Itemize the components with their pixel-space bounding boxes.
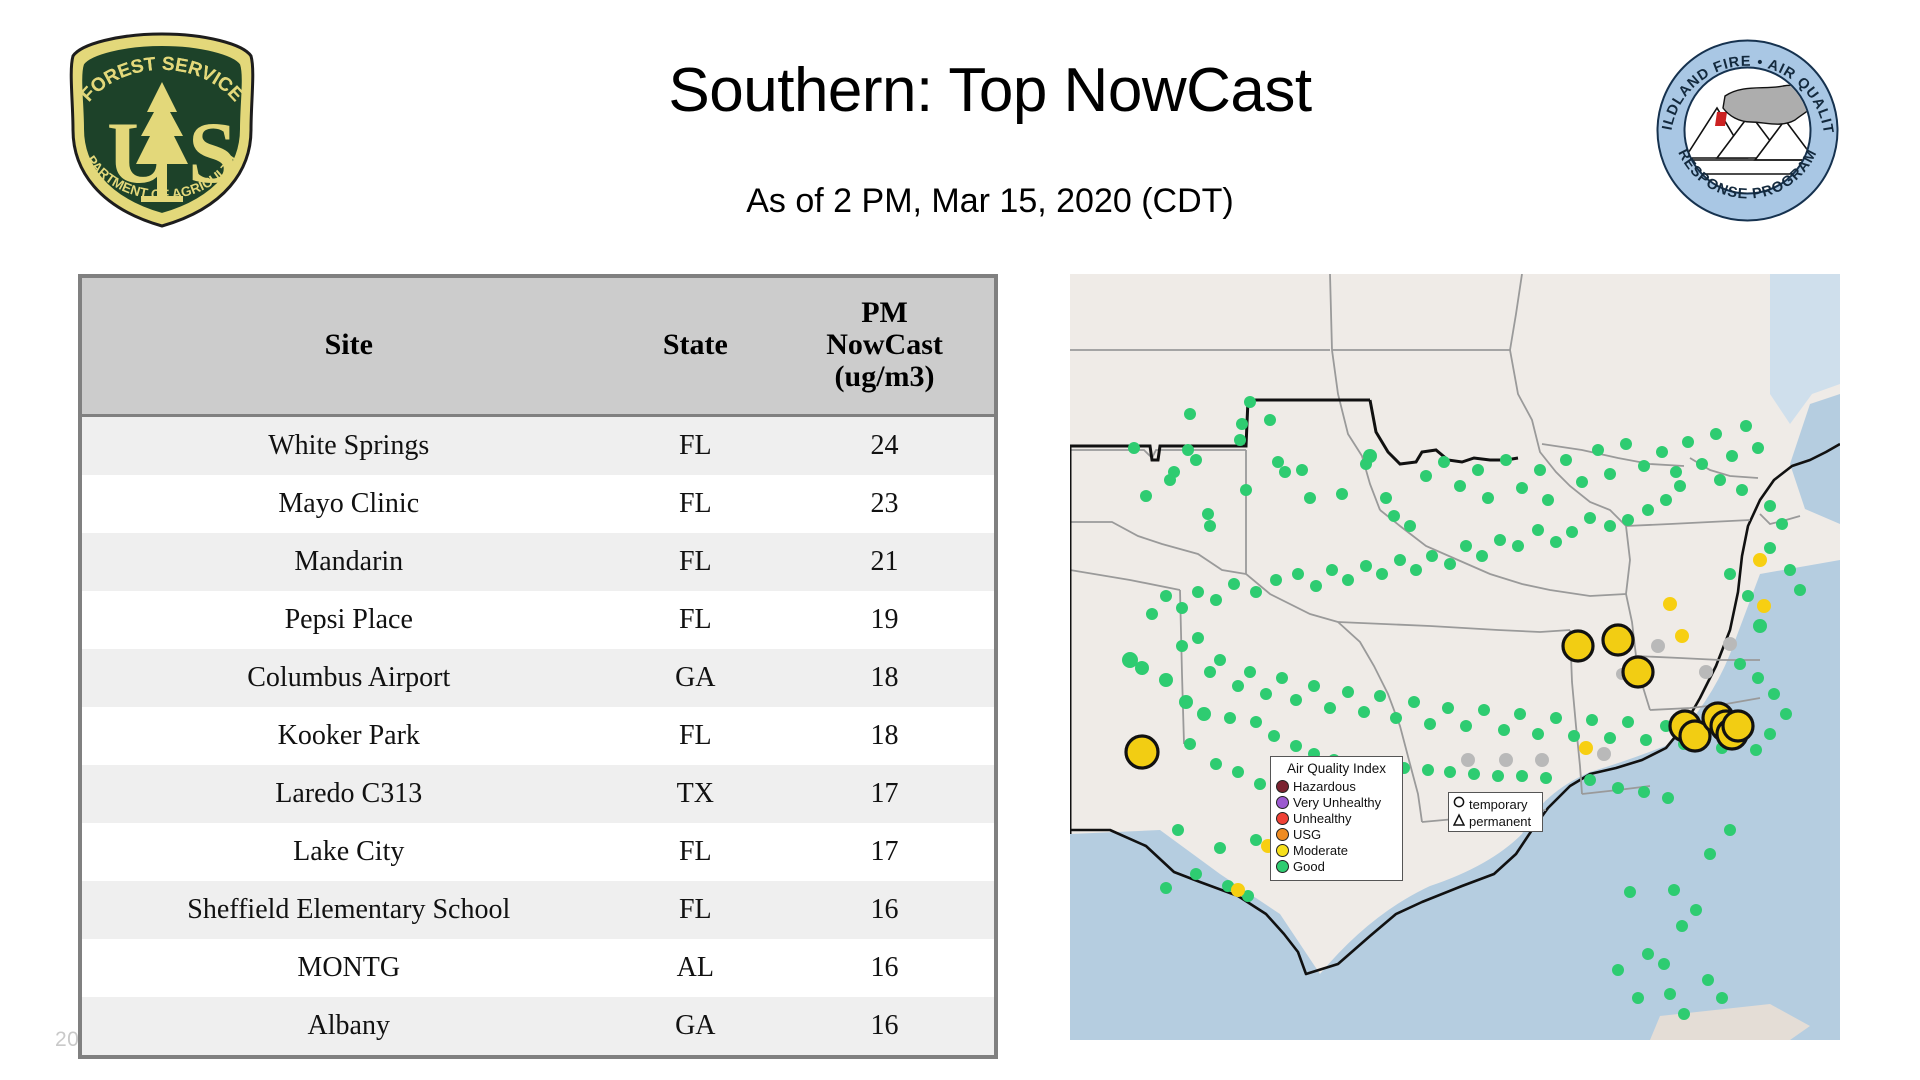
aqi-swatch-icon: [1276, 796, 1289, 809]
cell-value: 23: [775, 475, 994, 533]
aqi-legend-label: USG: [1293, 827, 1321, 842]
permanent-triangle-icon: [1453, 813, 1467, 830]
aqi-legend-label: Moderate: [1293, 843, 1348, 858]
cell-site: Columbus Airport: [82, 649, 616, 707]
nowcast-table: Site State PM NowCast (ug/m3) White Spri…: [78, 274, 998, 1059]
cell-state: FL: [616, 823, 776, 881]
cell-site: Lake City: [82, 823, 616, 881]
table-row: Columbus AirportGA18: [82, 649, 994, 707]
cell-value: 24: [775, 416, 994, 476]
cell-state: FL: [616, 881, 776, 939]
cell-site: Pepsi Place: [82, 591, 616, 649]
page-subtitle: As of 2 PM, Mar 15, 2020 (CDT): [400, 182, 1580, 221]
cell-value: 18: [775, 649, 994, 707]
site-type-permanent: permanent: [1453, 813, 1538, 830]
pm-nowcast-line2: NowCast: [826, 328, 943, 361]
aqi-swatch-icon: [1276, 844, 1289, 857]
cell-state: GA: [616, 649, 776, 707]
table-row: Mayo ClinicFL23: [82, 475, 994, 533]
column-header-pm-nowcast: PM NowCast (ug/m3): [775, 278, 994, 416]
cell-state: FL: [616, 707, 776, 765]
cell-site: Albany: [82, 997, 616, 1055]
pm-nowcast-line3: (ug/m3): [835, 360, 935, 393]
cell-site: White Springs: [82, 416, 616, 476]
column-header-site: Site: [82, 278, 616, 416]
aqi-legend-label: Good: [1293, 859, 1325, 874]
cell-state: TX: [616, 765, 776, 823]
cell-value: 16: [775, 939, 994, 997]
cell-state: GA: [616, 997, 776, 1055]
aqi-legend-item: Hazardous: [1276, 778, 1397, 794]
cell-value: 21: [775, 533, 994, 591]
aqi-legend-item: Unhealthy: [1276, 810, 1397, 826]
cell-state: FL: [616, 416, 776, 476]
table-header-row: Site State PM NowCast (ug/m3): [82, 278, 994, 416]
map-marker-montg: [1563, 631, 1593, 661]
aqi-legend: Air Quality Index HazardousVery Unhealth…: [1270, 756, 1403, 881]
cell-value: 16: [775, 881, 994, 939]
aqi-swatch-icon: [1276, 812, 1289, 825]
table-row: Lake CityFL17: [82, 823, 994, 881]
page-title: Southern: Top NowCast: [400, 58, 1580, 124]
cell-value: 17: [775, 765, 994, 823]
table-row: AlbanyGA16: [82, 997, 994, 1055]
cell-state: FL: [616, 591, 776, 649]
map-marker-laredo-c313: [1126, 736, 1158, 768]
site-type-permanent-label: permanent: [1469, 814, 1531, 829]
cell-site: Laredo C313: [82, 765, 616, 823]
table-row: Sheffield Elementary SchoolFL16: [82, 881, 994, 939]
cell-value: 16: [775, 997, 994, 1055]
pm-nowcast-line1: PM: [861, 296, 908, 329]
air-quality-map[interactable]: Air Quality Index HazardousVery Unhealth…: [1070, 274, 1840, 1040]
map-marker-columbus-airport: [1623, 657, 1653, 687]
cell-state: FL: [616, 533, 776, 591]
cell-site: Sheffield Elementary School: [82, 881, 616, 939]
aqi-swatch-icon: [1276, 780, 1289, 793]
site-type-legend: temporary permanent: [1448, 792, 1543, 832]
map-marker-sheffield: [1603, 625, 1633, 655]
site-type-temporary-label: temporary: [1469, 797, 1528, 812]
cell-site: Mandarin: [82, 533, 616, 591]
aqi-legend-item: USG: [1276, 826, 1397, 842]
temporary-circle-icon: [1453, 796, 1467, 813]
table-row: Kooker ParkFL18: [82, 707, 994, 765]
aqi-legend-label: Unhealthy: [1293, 811, 1352, 826]
cell-value: 19: [775, 591, 994, 649]
map-marker-pepsi-place: [1723, 711, 1753, 741]
aqi-legend-label: Hazardous: [1293, 779, 1356, 794]
site-type-temporary: temporary: [1453, 796, 1538, 813]
map-canvas: [1070, 274, 1840, 1040]
table-row: White SpringsFL24: [82, 416, 994, 476]
cell-site: Mayo Clinic: [82, 475, 616, 533]
column-header-state: State: [616, 278, 776, 416]
cell-state: AL: [616, 939, 776, 997]
usfs-shield-logo: FOREST SERVICE FOREST SERVICE U S DEPART…: [55, 30, 270, 230]
table-row: MandarinFL21: [82, 533, 994, 591]
cell-state: FL: [616, 475, 776, 533]
aqi-swatch-icon: [1276, 828, 1289, 841]
aqi-legend-item: Good: [1276, 858, 1397, 874]
table-row: Pepsi PlaceFL19: [82, 591, 994, 649]
table-row: Laredo C313TX17: [82, 765, 994, 823]
aqi-legend-item: Moderate: [1276, 842, 1397, 858]
aqi-swatch-icon: [1276, 860, 1289, 873]
cell-site: Kooker Park: [82, 707, 616, 765]
aqi-legend-title: Air Quality Index: [1276, 761, 1397, 776]
aqi-legend-label: Very Unhealthy: [1293, 795, 1381, 810]
aqi-legend-item: Very Unhealthy: [1276, 794, 1397, 810]
cell-site: MONTG: [82, 939, 616, 997]
cell-value: 17: [775, 823, 994, 881]
table-row: MONTGAL16: [82, 939, 994, 997]
cell-value: 18: [775, 707, 994, 765]
wildland-fire-air-quality-response-program-logo: WILDLAND FIRE • AIR QUALITY RESPONSE PRO…: [1655, 38, 1840, 223]
